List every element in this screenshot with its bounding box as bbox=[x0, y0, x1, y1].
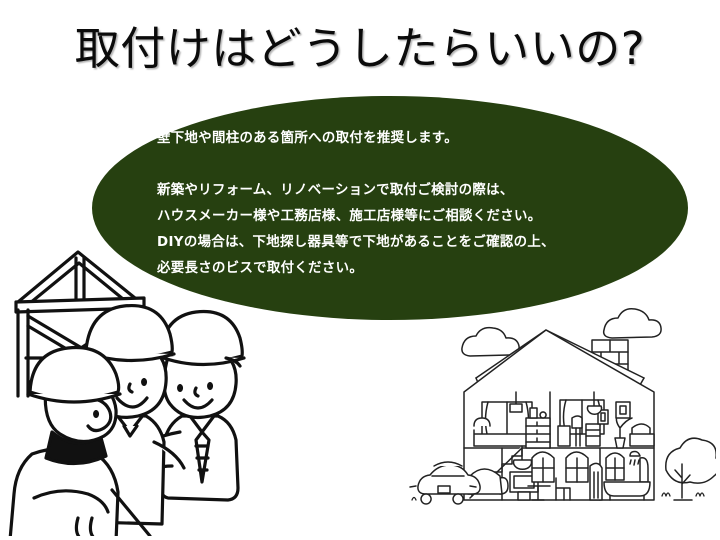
callout-line-2: 新築やリフォーム、リノベーションで取付ご検討の際は、 bbox=[157, 178, 657, 204]
callout-line-1: 壁下地や間柱のある箇所への取付を推奨します。 bbox=[157, 126, 657, 152]
cloud-left-icon bbox=[462, 328, 519, 356]
slide-canvas: 取付けはどうしたらいいの? 壁下地や間柱のある箇所への取付を推奨します。 新築や… bbox=[0, 0, 720, 540]
house-cutaway-illustration bbox=[404, 300, 716, 530]
page-title: 取付けはどうしたらいいの? bbox=[0, 22, 720, 75]
tree-icon bbox=[666, 438, 716, 500]
callout-line-3: ハウスメーカー様や工務店様、施工店様等にご相談ください。 bbox=[157, 204, 657, 230]
construction-workers-illustration bbox=[4, 246, 268, 536]
cloud-right-icon bbox=[604, 309, 661, 338]
